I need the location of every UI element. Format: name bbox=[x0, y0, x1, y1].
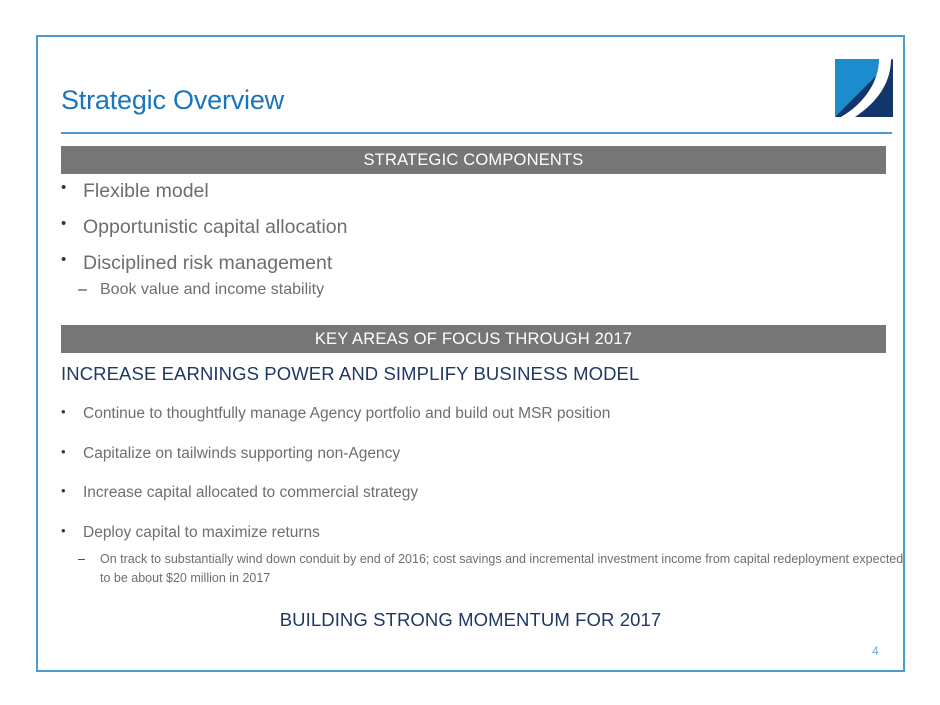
footer-tagline: BUILDING STRONG MOMENTUM FOR 2017 bbox=[38, 609, 903, 631]
bullet-dot-icon: • bbox=[61, 215, 66, 232]
section-header-label: STRATEGIC COMPONENTS bbox=[363, 151, 583, 170]
list-item-label: Deploy capital to maximize returns bbox=[83, 524, 320, 542]
bullet-dot-icon: • bbox=[61, 179, 66, 196]
sub-list-item-label: On track to substantially wind down cond… bbox=[100, 552, 903, 585]
bullet-dot-icon: • bbox=[61, 523, 66, 538]
bullet-dash-icon: – bbox=[78, 281, 87, 299]
bullet-dot-icon: • bbox=[61, 404, 66, 419]
bullet-dot-icon: • bbox=[61, 251, 66, 268]
section-header-label: KEY AREAS OF FOCUS THROUGH 2017 bbox=[315, 330, 632, 349]
list-item-label: Continue to thoughtfully manage Agency p… bbox=[83, 405, 610, 423]
list-item: • Flexible model bbox=[61, 180, 347, 203]
list-item-label: Disciplined risk management bbox=[83, 252, 332, 275]
list-item-label: Increase capital allocated to commercial… bbox=[83, 484, 418, 502]
section-header-strategic-components: STRATEGIC COMPONENTS bbox=[61, 146, 886, 174]
bullet-dot-icon: • bbox=[61, 444, 66, 459]
bullet-dash-icon: – bbox=[78, 550, 85, 569]
bullet-dot-icon: • bbox=[61, 483, 66, 498]
company-logo-icon bbox=[835, 59, 893, 117]
page-title: Strategic Overview bbox=[61, 85, 284, 116]
section-header-key-areas: KEY AREAS OF FOCUS THROUGH 2017 bbox=[61, 325, 886, 353]
key-areas-list: • Continue to thoughtfully manage Agency… bbox=[61, 405, 915, 588]
list-item-label: Flexible model bbox=[83, 180, 209, 203]
list-item-label: Capitalize on tailwinds supporting non-A… bbox=[83, 445, 400, 463]
title-divider bbox=[61, 132, 892, 134]
focus-heading: INCREASE EARNINGS POWER AND SIMPLIFY BUS… bbox=[61, 363, 639, 385]
page-number: 4 bbox=[872, 644, 879, 658]
strategic-components-list: • Flexible model • Opportunistic capital… bbox=[61, 180, 347, 299]
list-item: • Opportunistic capital allocation bbox=[61, 216, 347, 239]
list-item: • Capitalize on tailwinds supporting non… bbox=[61, 445, 915, 463]
sub-list-item-label: Book value and income stability bbox=[100, 281, 324, 298]
list-item: • Disciplined risk management bbox=[61, 252, 347, 275]
list-item: • Increase capital allocated to commerci… bbox=[61, 484, 915, 502]
sub-list-item: – On track to substantially wind down co… bbox=[61, 550, 915, 589]
list-item-label: Opportunistic capital allocation bbox=[83, 216, 347, 239]
list-item: • Deploy capital to maximize returns bbox=[61, 524, 915, 542]
list-item: • Continue to thoughtfully manage Agency… bbox=[61, 405, 915, 423]
company-logo bbox=[835, 59, 893, 117]
slide-canvas: Strategic Overview STRATEGIC COMPONENTS … bbox=[36, 35, 905, 672]
sub-list-item: – Book value and income stability bbox=[61, 281, 347, 299]
